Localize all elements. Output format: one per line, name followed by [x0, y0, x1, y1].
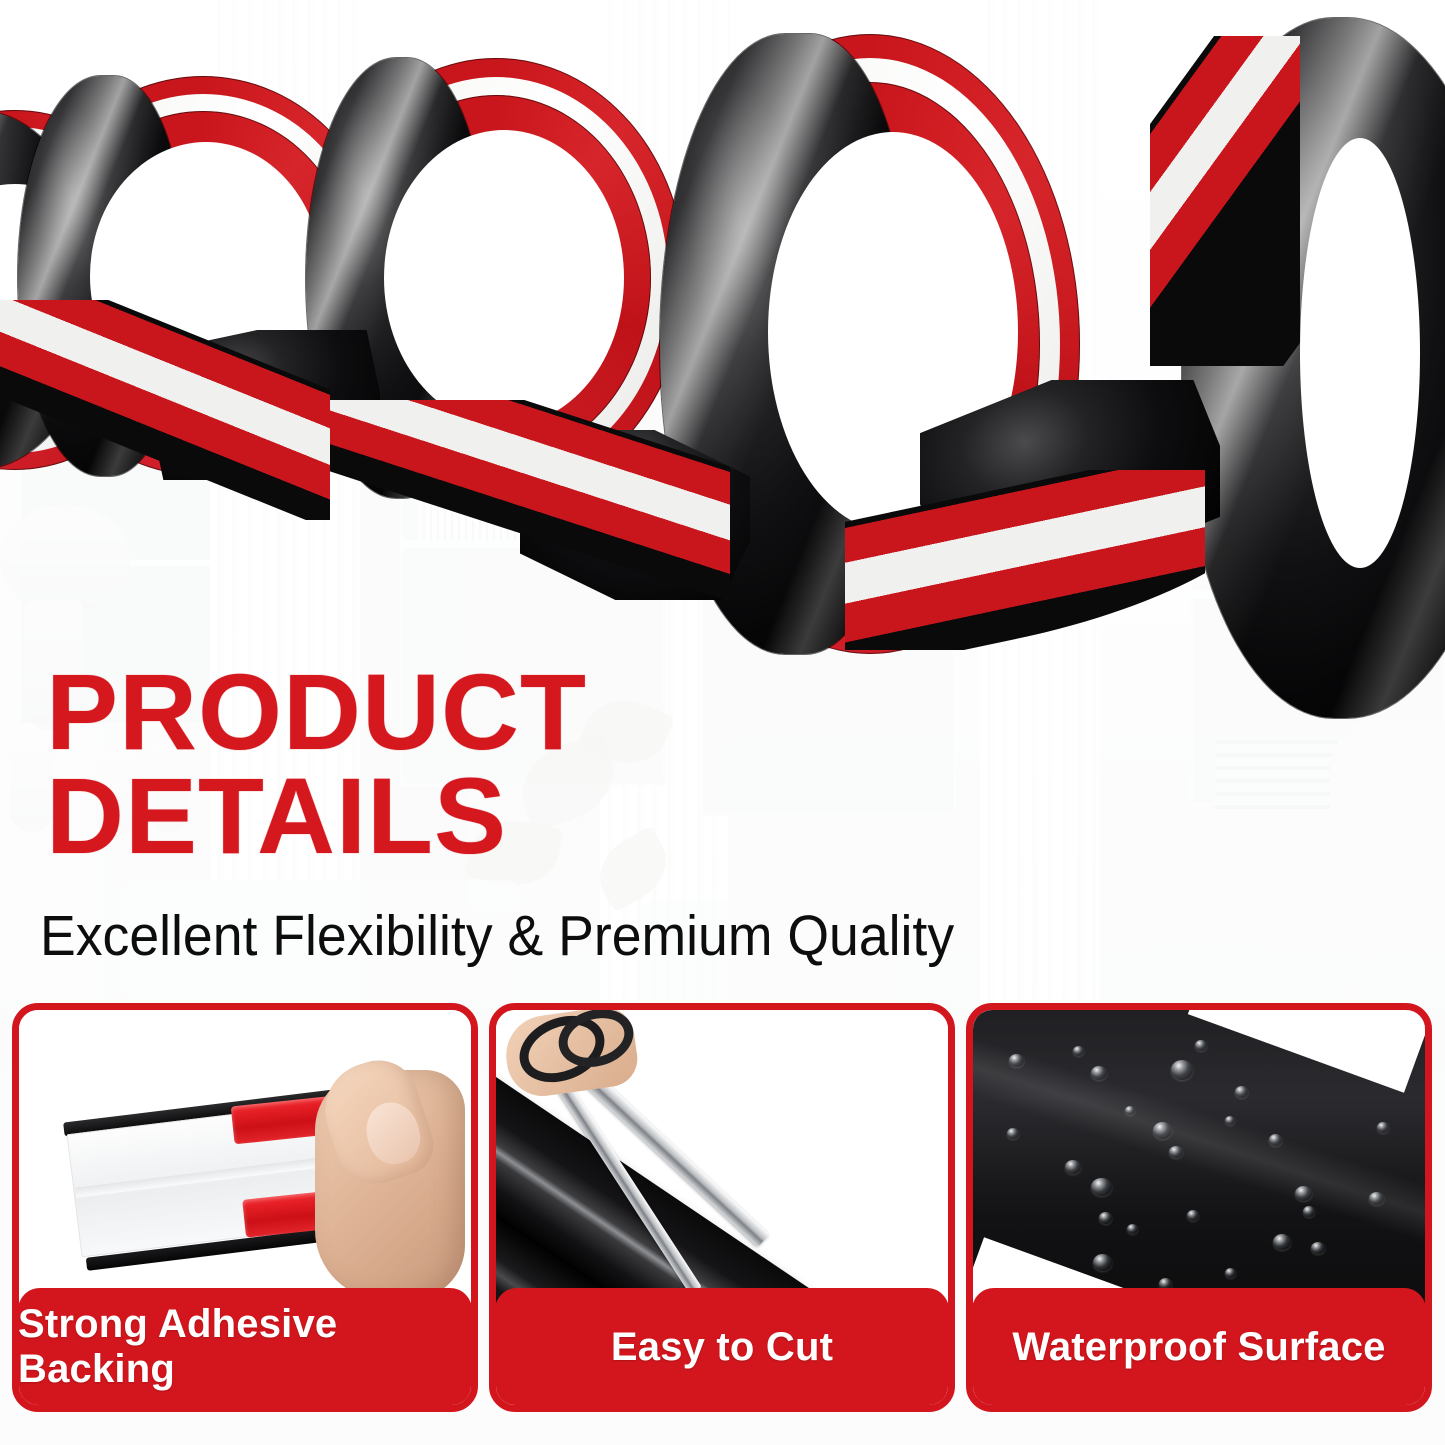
water-droplet: [1273, 1234, 1291, 1250]
feature-panel-cut[interactable]: Easy to Cut: [489, 1003, 955, 1412]
water-droplet: [1091, 1178, 1112, 1196]
water-droplet: [1127, 1224, 1138, 1234]
feature-caption-waterproof: Waterproof Surface: [972, 1288, 1426, 1406]
water-droplet: [1187, 1210, 1199, 1221]
feature-panel-waterproof[interactable]: Waterproof Surface: [966, 1003, 1432, 1412]
water-droplet: [1093, 1254, 1112, 1271]
water-droplet: [1091, 1066, 1107, 1080]
feature-caption-adhesive: Strong Adhesive Backing: [18, 1288, 472, 1406]
water-droplet: [1303, 1206, 1315, 1217]
tape-ribbon-adhesive-mid: [330, 400, 730, 620]
tape-coil-hole: [384, 130, 624, 426]
water-droplet: [1295, 1186, 1312, 1201]
page-subtitle: Excellent Flexibility & Premium Quality: [40, 905, 1262, 967]
feature-media-waterproof: [973, 1010, 1425, 1310]
water-droplet: [1065, 1160, 1081, 1174]
feature-media-cut: [496, 1010, 948, 1310]
water-droplet: [1235, 1086, 1248, 1098]
water-droplet: [1377, 1122, 1389, 1133]
water-droplet: [1169, 1146, 1183, 1158]
water-droplet: [1171, 1060, 1193, 1080]
page-title: PRODUCT DETAILS: [46, 660, 1146, 868]
feature-panel-adhesive[interactable]: Strong Adhesive Backing: [12, 1003, 478, 1412]
feature-panels: Strong Adhesive Backing Easy to Cut: [0, 1003, 1445, 1415]
water-droplet: [1073, 1046, 1084, 1056]
water-droplet: [1153, 1122, 1172, 1139]
water-droplet: [1269, 1134, 1282, 1146]
tape-ribbon-adhesive-lower: [845, 470, 1205, 650]
water-droplet: [1195, 1040, 1207, 1051]
feature-caption-cut: Easy to Cut: [495, 1288, 949, 1406]
water-droplet: [1311, 1242, 1325, 1254]
product-detail-graphic: PRODUCT DETAILS Excellent Flexibility & …: [0, 0, 1445, 1445]
water-droplet: [1225, 1116, 1235, 1125]
tape-coil-hole: [1300, 138, 1420, 568]
tape-ribbon-adhesive-left: [0, 300, 330, 520]
water-droplet: [1369, 1192, 1384, 1205]
water-droplet: [1099, 1212, 1112, 1224]
water-droplet: [1125, 1106, 1135, 1115]
tape-ribbon-adhesive-right: [1150, 36, 1300, 366]
feature-media-adhesive: [19, 1010, 471, 1310]
water-droplet: [1009, 1054, 1024, 1067]
water-droplet: [1225, 1268, 1236, 1278]
water-droplet: [1007, 1128, 1019, 1139]
